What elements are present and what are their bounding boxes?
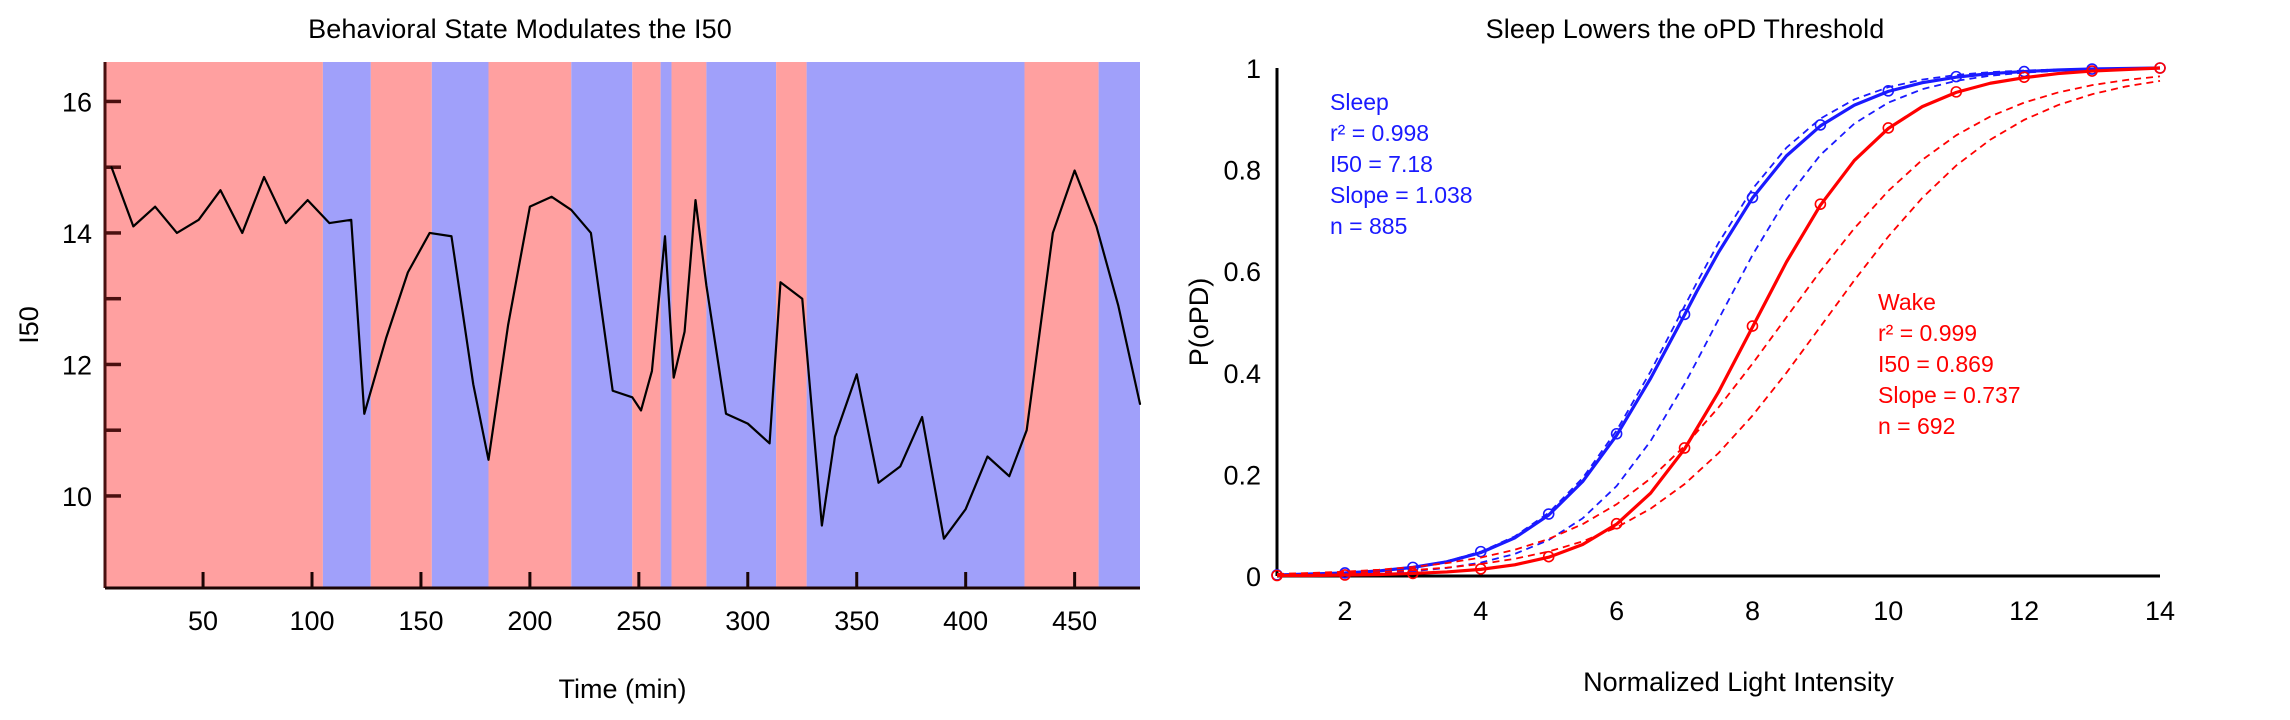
state-band-sleep	[807, 62, 1025, 588]
annot-sleep-i50: I50 = 7.18	[1330, 151, 1433, 177]
state-band-wake	[371, 62, 432, 588]
y-axis-label: I50	[14, 306, 44, 344]
y-tick-label: 12	[62, 350, 92, 380]
x-tick-label: 6	[1609, 596, 1624, 626]
x-tick-label: 150	[398, 606, 443, 636]
figure-root: Behavioral State Modulates the I50 10121…	[0, 0, 2290, 720]
x-tick-label: 100	[289, 606, 334, 636]
x-tick-label: 200	[507, 606, 552, 636]
x-tick-label: 400	[943, 606, 988, 636]
x-tick-label: 12	[2009, 596, 2039, 626]
annot-sleep-r2: r² = 0.998	[1330, 120, 1429, 146]
x-tick-label: 50	[188, 606, 218, 636]
x-tick-label: 250	[616, 606, 661, 636]
y-tick-label: 0.2	[1223, 460, 1261, 490]
x-axis-ticks: 2468101214	[1337, 596, 2175, 626]
panel-opd-psychometric: Sleep Lowers the oPD Threshold 00.20.40.…	[1160, 0, 2290, 720]
state-band-wake	[1025, 62, 1099, 588]
x-tick-label: 2	[1337, 596, 1352, 626]
state-band-sleep	[706, 62, 776, 588]
y-tick-label: 14	[62, 219, 92, 249]
state-band-sleep	[432, 62, 489, 588]
annot-sleep-name: Sleep	[1330, 89, 1389, 115]
annot-wake-i50: I50 = 0.869	[1878, 351, 1994, 377]
annot-wake-n: n = 692	[1878, 413, 1955, 439]
state-band-sleep	[323, 62, 371, 588]
panel-i50-timeseries: Behavioral State Modulates the I50 10121…	[0, 0, 1160, 720]
y-axis-ticks: 00.20.40.60.81	[1223, 54, 1261, 592]
annot-wake-slope: Slope = 0.737	[1878, 382, 2021, 408]
y-tick-label: 0.6	[1223, 257, 1261, 287]
annot-wake-name: Wake	[1878, 289, 1936, 315]
annot-sleep-slope: Slope = 1.038	[1330, 182, 1473, 208]
y-axis-label: P(oPD)	[1184, 278, 1214, 367]
annot-sleep-n: n = 885	[1330, 213, 1407, 239]
x-tick-label: 14	[2145, 596, 2175, 626]
y-tick-label: 0.4	[1223, 359, 1261, 389]
x-axis-label: Normalized Light Intensity	[1583, 667, 1894, 697]
x-tick-label: 300	[725, 606, 770, 636]
state-band-wake	[488, 62, 571, 588]
state-band-sleep	[571, 62, 632, 588]
y-tick-label: 1	[1246, 54, 1261, 84]
y-tick-label: 0	[1246, 562, 1261, 592]
state-band-sleep	[1099, 62, 1140, 588]
state-band-wake	[672, 62, 707, 588]
x-tick-label: 10	[1873, 596, 1903, 626]
y-tick-label: 0.8	[1223, 156, 1261, 186]
state-band-wake	[776, 62, 807, 588]
state-band-wake	[105, 62, 323, 588]
behavioral-state-bands	[105, 62, 1140, 588]
y-tick-label: 10	[62, 482, 92, 512]
x-tick-label: 4	[1473, 596, 1488, 626]
opd-psychometric-plot: 00.20.40.60.812468101214Normalized Light…	[1160, 0, 2290, 720]
x-axis-label: Time (min)	[559, 674, 687, 704]
annot-wake-r2: r² = 0.999	[1878, 320, 1977, 346]
y-tick-label: 16	[62, 87, 92, 117]
i50-timeseries-plot: 1012141650100150200250300350400450Time (…	[0, 0, 1160, 720]
x-tick-label: 350	[834, 606, 879, 636]
x-tick-label: 8	[1745, 596, 1760, 626]
x-tick-label: 450	[1052, 606, 1097, 636]
